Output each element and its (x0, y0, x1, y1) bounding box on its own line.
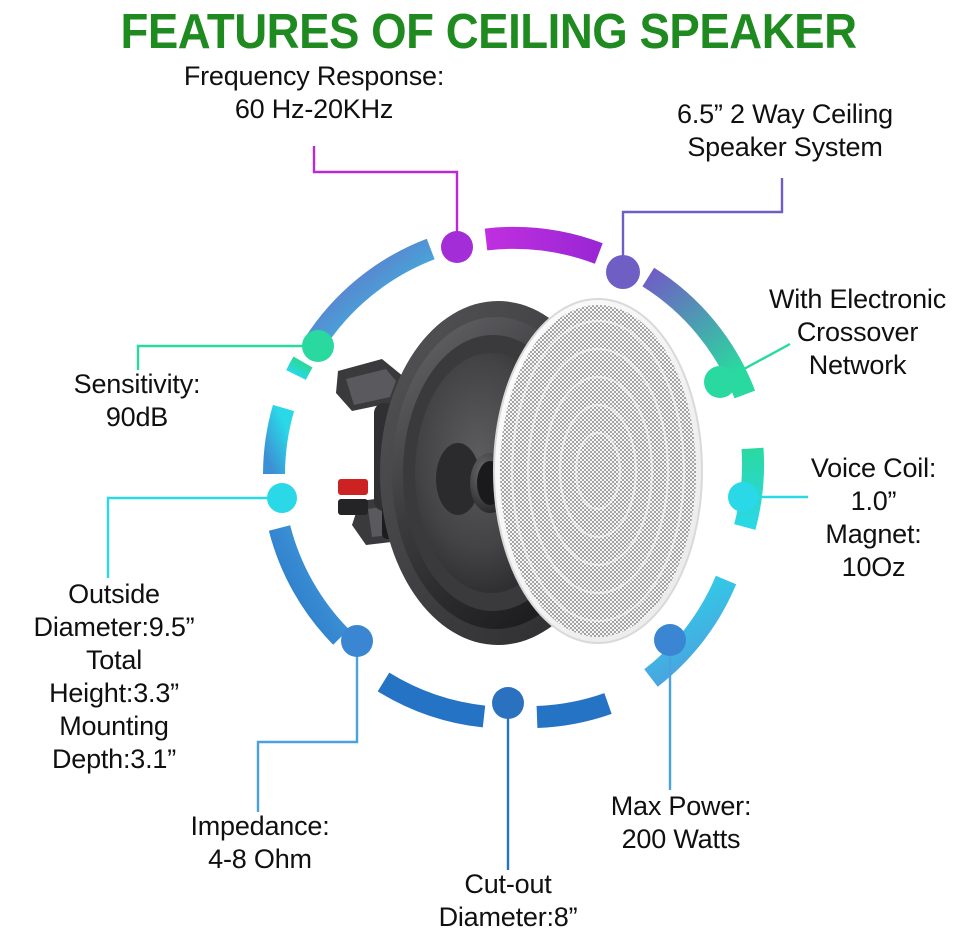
ring-segment-10 (296, 362, 303, 375)
label-crossover-network: With Electronic Crossover Network (738, 283, 977, 382)
label-sensitivity: Sensitivity: 90dB (18, 368, 256, 434)
node-cut-out[interactable] (492, 687, 524, 719)
connector-frequency-response (314, 146, 457, 243)
connector-speaker-system (623, 178, 782, 268)
ring-segment-7 (384, 682, 485, 717)
node-voice-coil[interactable] (728, 482, 758, 512)
node-dimensions[interactable] (267, 483, 297, 513)
infographic-page: FEATURES OF CEILING SPEAKER (0, 0, 977, 939)
connector-dimensions (108, 498, 282, 578)
label-cut-out-diameter: Cut-out Diameter:8” (392, 868, 624, 934)
ceiling-speaker-image (330, 283, 710, 663)
connector-impedance (258, 641, 357, 812)
label-frequency-response: Frequency Response: 60 Hz-20KHz (128, 60, 500, 126)
ring-segment-6 (537, 704, 608, 718)
label-impedance: Impedance: 4-8 Ohm (146, 810, 374, 876)
label-voice-coil-magnet: Voice Coil: 1.0” Magnet: 10Oz (770, 452, 977, 584)
ring-segment-9 (274, 408, 284, 474)
ring-segment-2 (486, 238, 599, 254)
label-max-power: Max Power: 200 Watts (563, 790, 799, 856)
label-dimensions: Outside Diameter:9.5” Total Height:3.3” … (0, 578, 228, 776)
speaker-grille (494, 299, 702, 643)
label-speaker-system: 6.5” 2 Way Ceiling Speaker System (620, 98, 950, 164)
node-frequency-response[interactable] (441, 231, 473, 263)
